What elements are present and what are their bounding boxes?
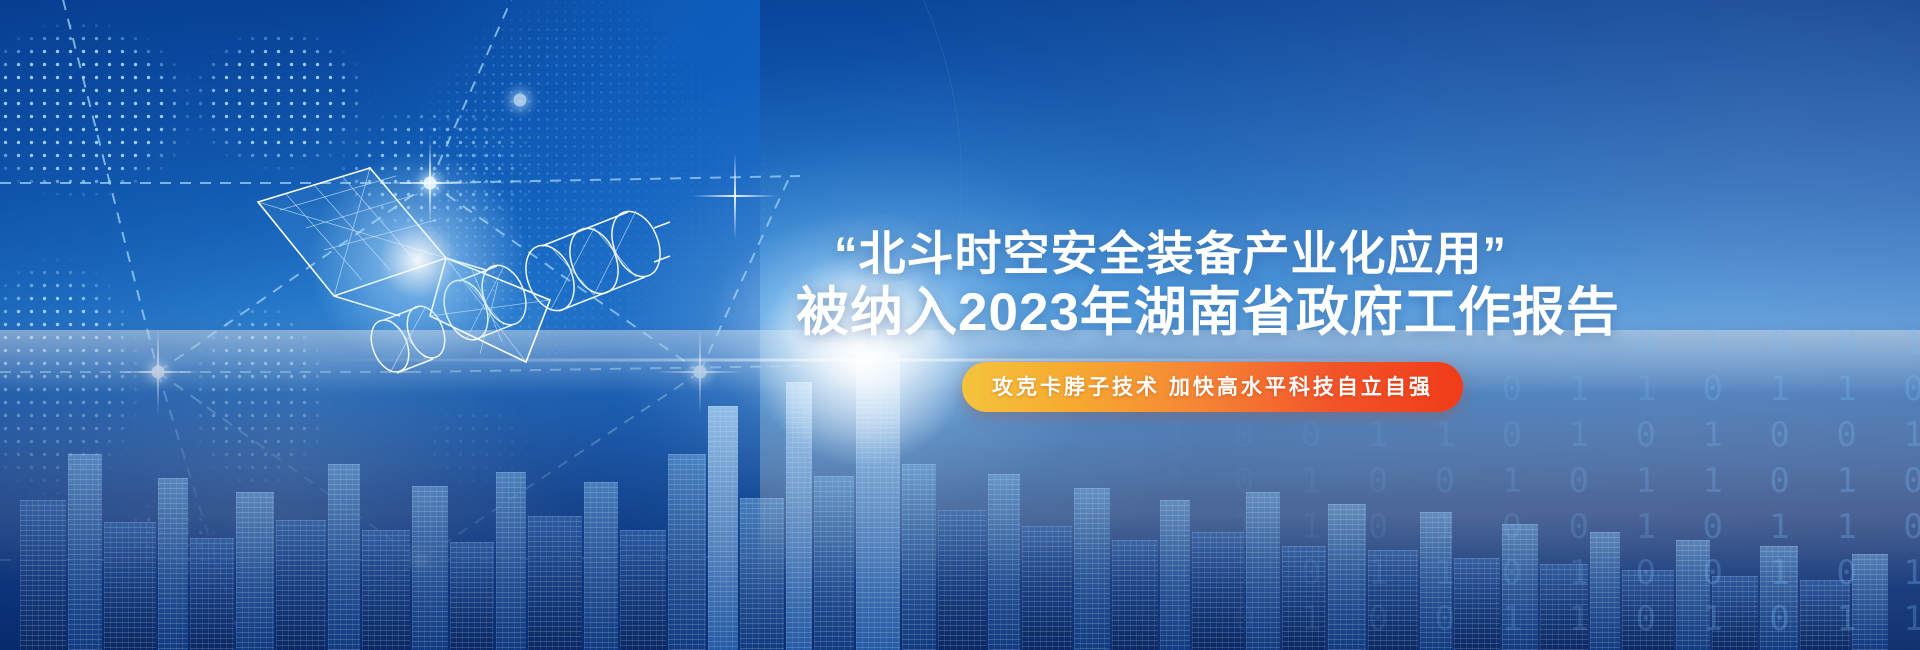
headline-line-2: 被纳入2023年湖南省政府工作报告 — [790, 282, 1690, 344]
satellite-wireframe-icon — [250, 110, 670, 410]
headline-block: “北斗时空安全装备产业化应用” 被纳入2023年湖南省政府工作报告 攻克卡脖子技… — [790, 226, 1690, 412]
slogan-badge[interactable]: 攻克卡脖子技术 加快高水平科技自立自强 — [962, 362, 1463, 412]
network-node — [514, 94, 527, 107]
promo-banner: 1 0 0 1 0 1 1 0 0 1 0 0 1 1 0 1 0 1 1 0 … — [0, 0, 1920, 650]
headline-line-1: “北斗时空安全装备产业化应用” — [790, 226, 1690, 282]
